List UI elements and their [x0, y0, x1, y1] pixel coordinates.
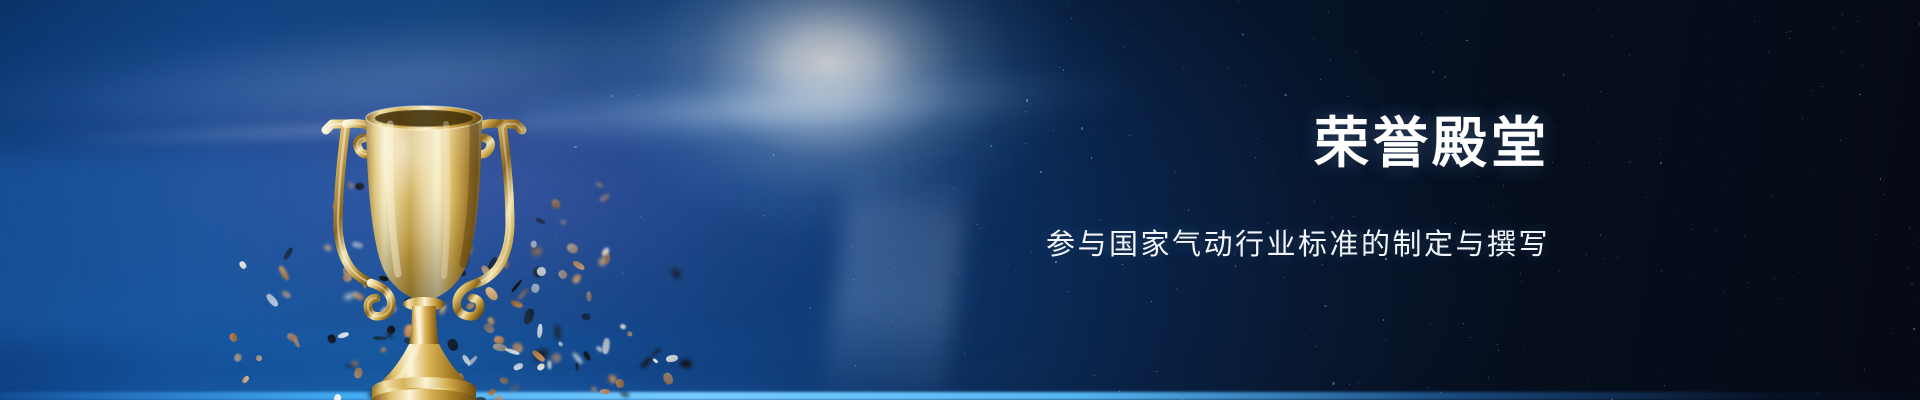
- trophy-icon: [240, 78, 570, 400]
- banner-text-block: 荣誉殿堂 参与国家气动行业标准的制定与撰写: [1046, 112, 1550, 264]
- trophy-bowl: [366, 106, 482, 302]
- honor-hall-banner: 荣誉殿堂 参与国家气动行业标准的制定与撰写: [0, 0, 1920, 400]
- page-subtitle: 参与国家气动行业标准的制定与撰写: [1046, 226, 1550, 264]
- trophy-base: [364, 377, 484, 400]
- ground-glow: [0, 336, 1344, 400]
- page-title: 荣誉殿堂: [1046, 112, 1550, 174]
